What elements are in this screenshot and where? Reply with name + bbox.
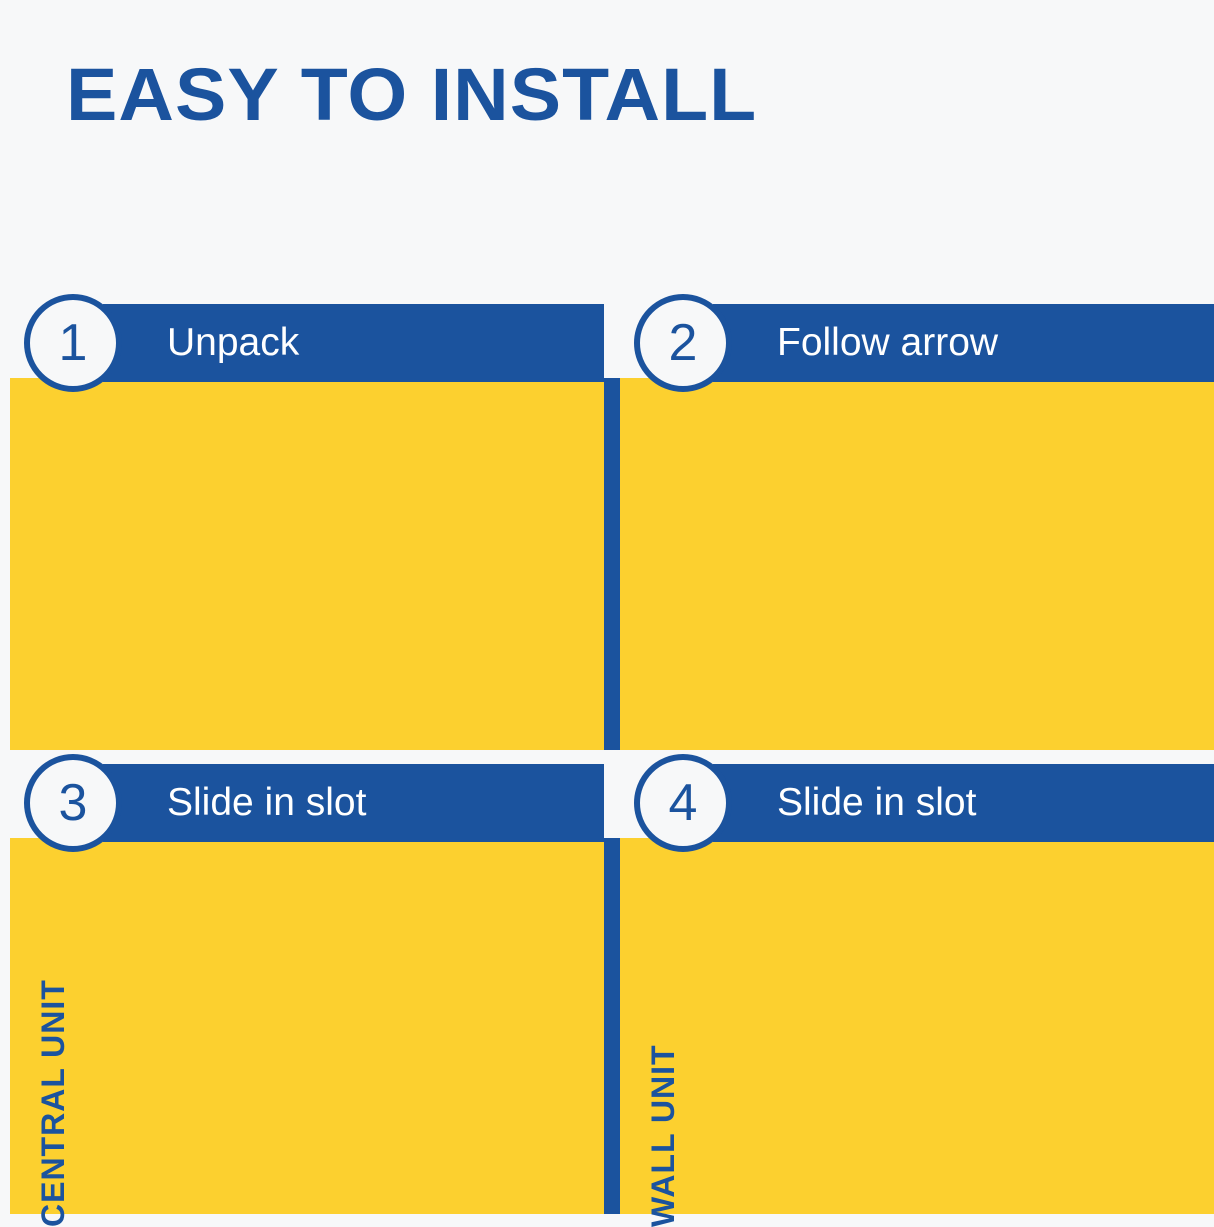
- page-title: EASY TO INSTALL: [66, 58, 757, 132]
- step-label-2: Follow arrow: [777, 321, 998, 365]
- column-divider-top: [604, 378, 620, 750]
- panel-background-yellow: [620, 838, 1214, 1214]
- step-label-4: Slide in slot: [777, 781, 976, 825]
- panel-background-yellow: [620, 378, 1214, 750]
- step-badge-1: 1: [24, 294, 122, 392]
- step-panel-4: [620, 838, 1214, 1214]
- panel-background-yellow: [10, 838, 604, 1214]
- step-header-2: Follow arrow: [713, 304, 1214, 382]
- unit-label-wall: WALL UNIT: [645, 1044, 682, 1227]
- panel-background-yellow: [10, 378, 604, 750]
- step-header-3: Slide in slot: [103, 764, 604, 842]
- step-panel-3: [10, 838, 604, 1214]
- step-label-1: Unpack: [167, 321, 299, 365]
- step-panel-1: [10, 378, 604, 750]
- step-badge-2: 2: [634, 294, 732, 392]
- step-panel-2: [620, 378, 1214, 750]
- column-divider-bottom: [604, 838, 620, 1214]
- step-header-4: Slide in slot: [713, 764, 1214, 842]
- step-badge-4: 4: [634, 754, 732, 852]
- step-badge-3: 3: [24, 754, 122, 852]
- infographic-page: EASY TO INSTALL: [0, 0, 1214, 1214]
- step-header-1: Unpack: [103, 304, 604, 382]
- unit-label-central: CENTRAL UNIT: [35, 979, 72, 1227]
- step-label-3: Slide in slot: [167, 781, 366, 825]
